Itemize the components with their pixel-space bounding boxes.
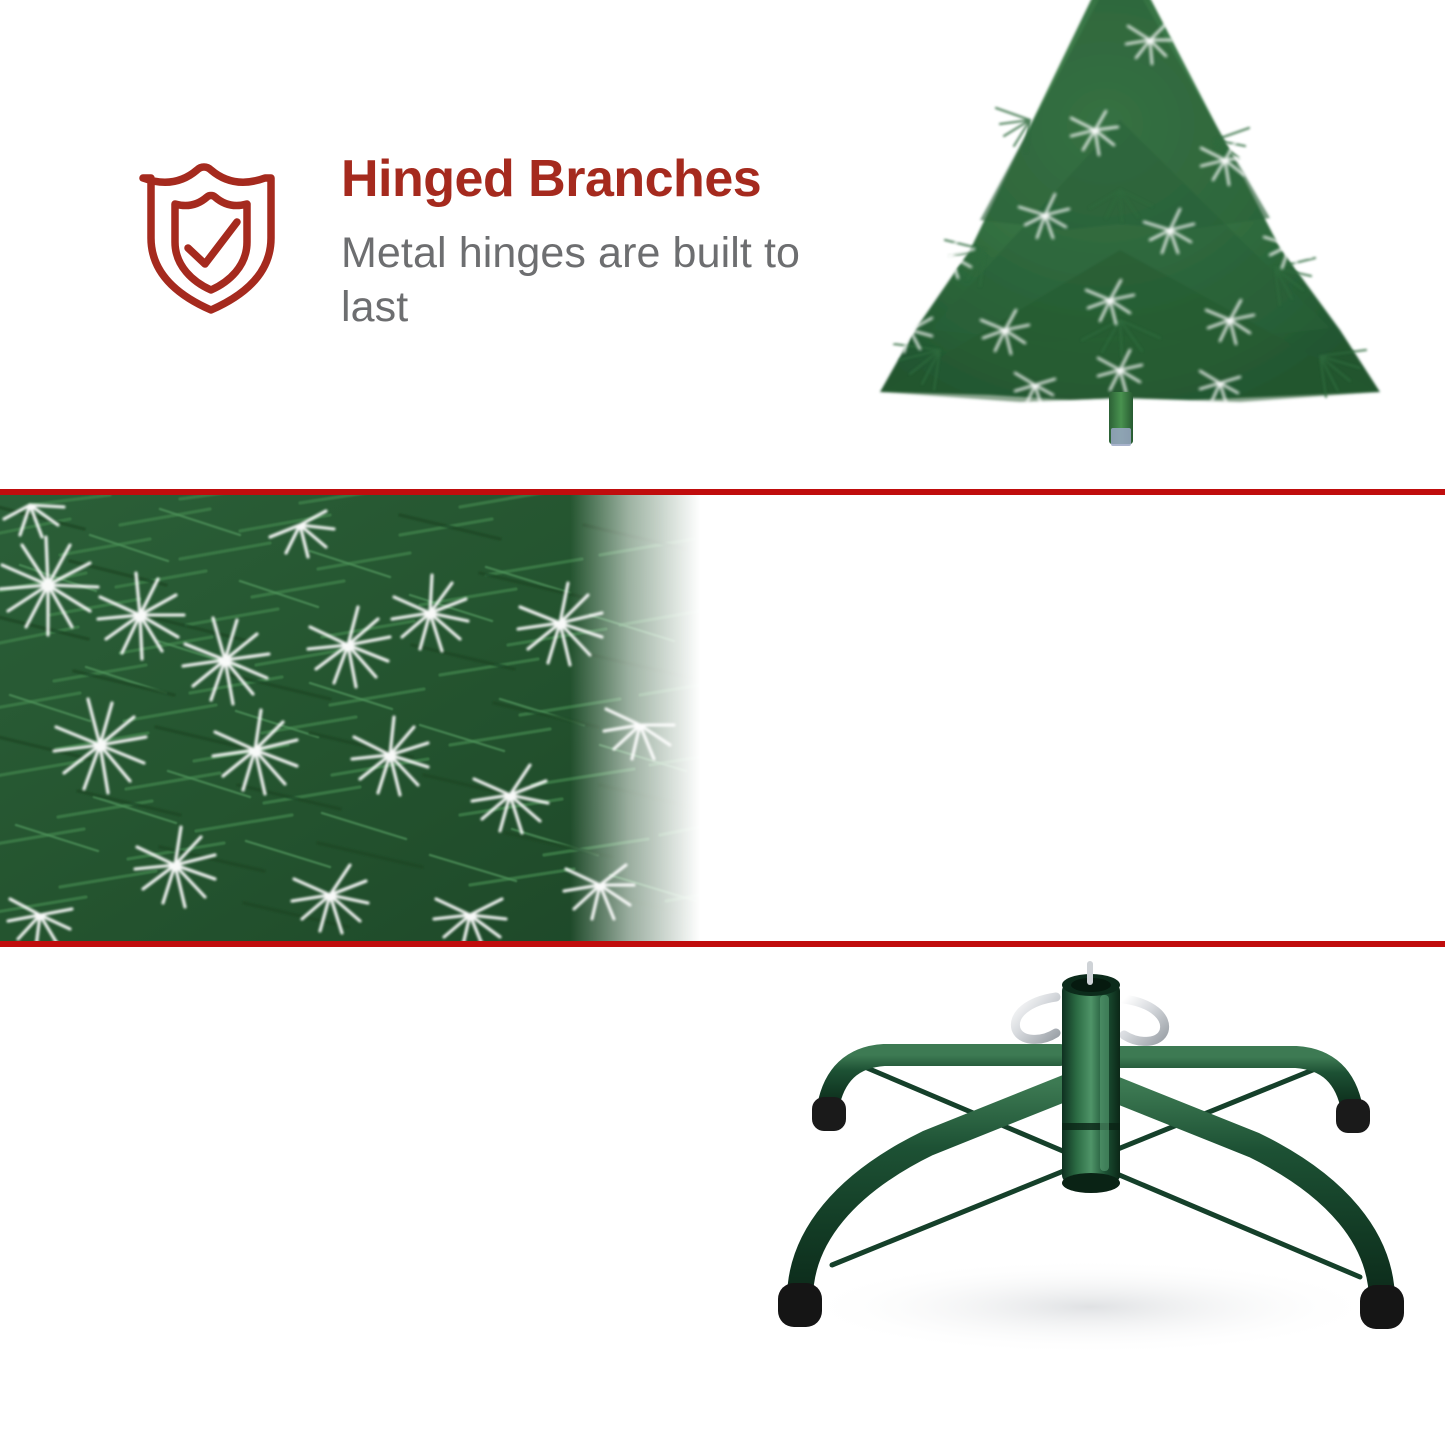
feature-panel-sturdy-base: Sturdy Base A reliable metal stand for y… <box>0 947 1445 1445</box>
photo-fade-edge <box>570 495 700 941</box>
shield-check-icon <box>131 156 291 316</box>
feature-panel-hinged-branches: Hinged Branches Metal hinges are built t… <box>0 0 1445 489</box>
flocked-christmas-tree-photo <box>820 0 1445 489</box>
feature-panel-pvc-tips: PVC Tips Flame-retardant and easy to flu… <box>0 495 1445 941</box>
feature-title-hinged-branches: Hinged Branches <box>341 152 811 206</box>
feature-description-hinged-branches: Metal hinges are built to last <box>341 226 811 334</box>
metal-tree-stand-photo <box>760 947 1420 1367</box>
feature-text-hinged-branches: Hinged Branches Metal hinges are built t… <box>341 152 811 334</box>
product-feature-infographic: Hinged Branches Metal hinges are built t… <box>0 0 1445 1445</box>
pvc-needles-closeup-photo <box>0 495 700 941</box>
